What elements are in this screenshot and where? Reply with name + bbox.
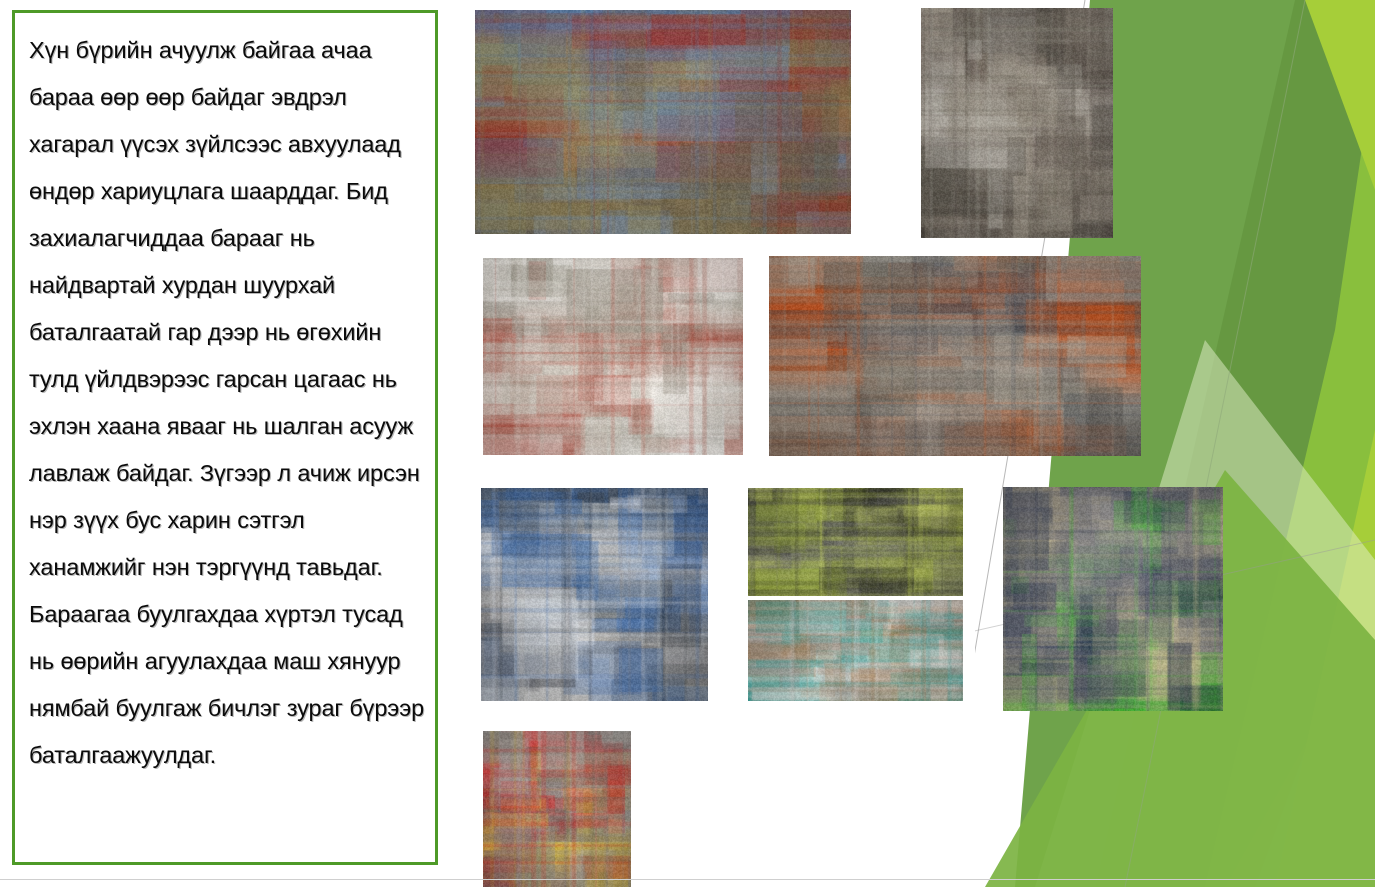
body-text-panel: Хүн бүрийн ачуулж байгаа ачаа бараа өөр … bbox=[12, 10, 438, 865]
photo-steel-profiles-canvas bbox=[769, 256, 1141, 456]
photo-white-sacks bbox=[483, 258, 743, 455]
deco-shape-lime bbox=[1275, 430, 1375, 887]
slide-bottom-rule bbox=[0, 879, 1375, 880]
photo-loaded-truck-canvas bbox=[475, 10, 851, 234]
photo-aluminium-profiles bbox=[483, 731, 631, 887]
photo-wooden-crates-canvas bbox=[1003, 487, 1223, 711]
photo-wire-coils-canvas bbox=[921, 8, 1113, 238]
photo-brown-paper-parcels bbox=[748, 600, 963, 701]
photo-wire-coils bbox=[921, 8, 1113, 238]
deco-shape-bright-green bbox=[1205, 60, 1375, 887]
photo-brown-paper-parcels-canvas bbox=[748, 600, 963, 701]
photo-aluminium-profiles-canvas bbox=[483, 731, 631, 887]
photo-machine-on-truck bbox=[481, 488, 708, 701]
photo-white-sacks-canvas bbox=[483, 258, 743, 455]
photo-machine-on-truck-canvas bbox=[481, 488, 708, 701]
photo-green-wrapped-pallet-canvas bbox=[748, 488, 963, 596]
body-paragraph: Хүн бүрийн ачуулж байгаа ачаа бараа өөр … bbox=[29, 27, 425, 779]
presentation-slide: Хүн бүрийн ачуулж байгаа ачаа бараа өөр … bbox=[0, 0, 1375, 887]
deco-shape-top-lime-sliver bbox=[1305, 0, 1375, 190]
deco-hairline-2 bbox=[1125, 0, 1305, 887]
photo-steel-profiles bbox=[769, 256, 1141, 456]
photo-green-wrapped-pallet bbox=[748, 488, 963, 596]
photo-wooden-crates bbox=[1003, 487, 1223, 711]
photo-loaded-truck bbox=[475, 10, 851, 234]
